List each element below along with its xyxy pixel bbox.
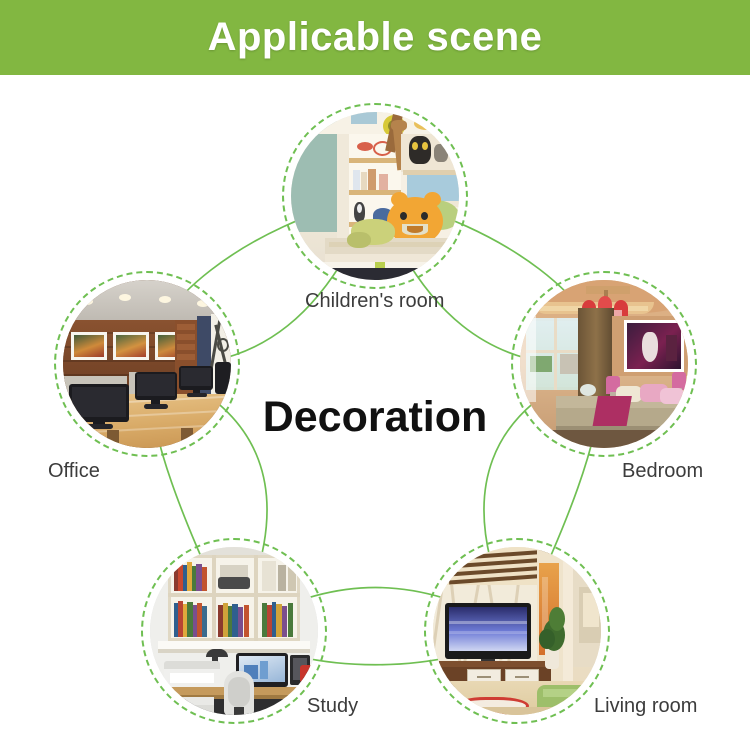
scene-node-children[interactable] (282, 103, 468, 289)
scene-diagram: Children's room (0, 75, 750, 750)
childrens-room-photo (291, 112, 459, 280)
header-banner: Applicable scene (0, 0, 750, 75)
scene-label-bedroom: Bedroom (622, 460, 703, 483)
page-title: Applicable scene (208, 15, 543, 60)
scene-node-living[interactable] (424, 538, 610, 724)
study-photo (150, 547, 318, 715)
living-room-photo (433, 547, 601, 715)
scene-node-study[interactable] (141, 538, 327, 724)
scene-label-children: Children's room (305, 290, 444, 313)
scene-label-office: Office (48, 460, 100, 483)
center-label: Decoration (0, 393, 750, 442)
applicable-scene-graphic: Applicable scene (0, 0, 750, 750)
scene-label-study: Study (307, 695, 358, 718)
scene-label-living: Living room (594, 695, 697, 718)
